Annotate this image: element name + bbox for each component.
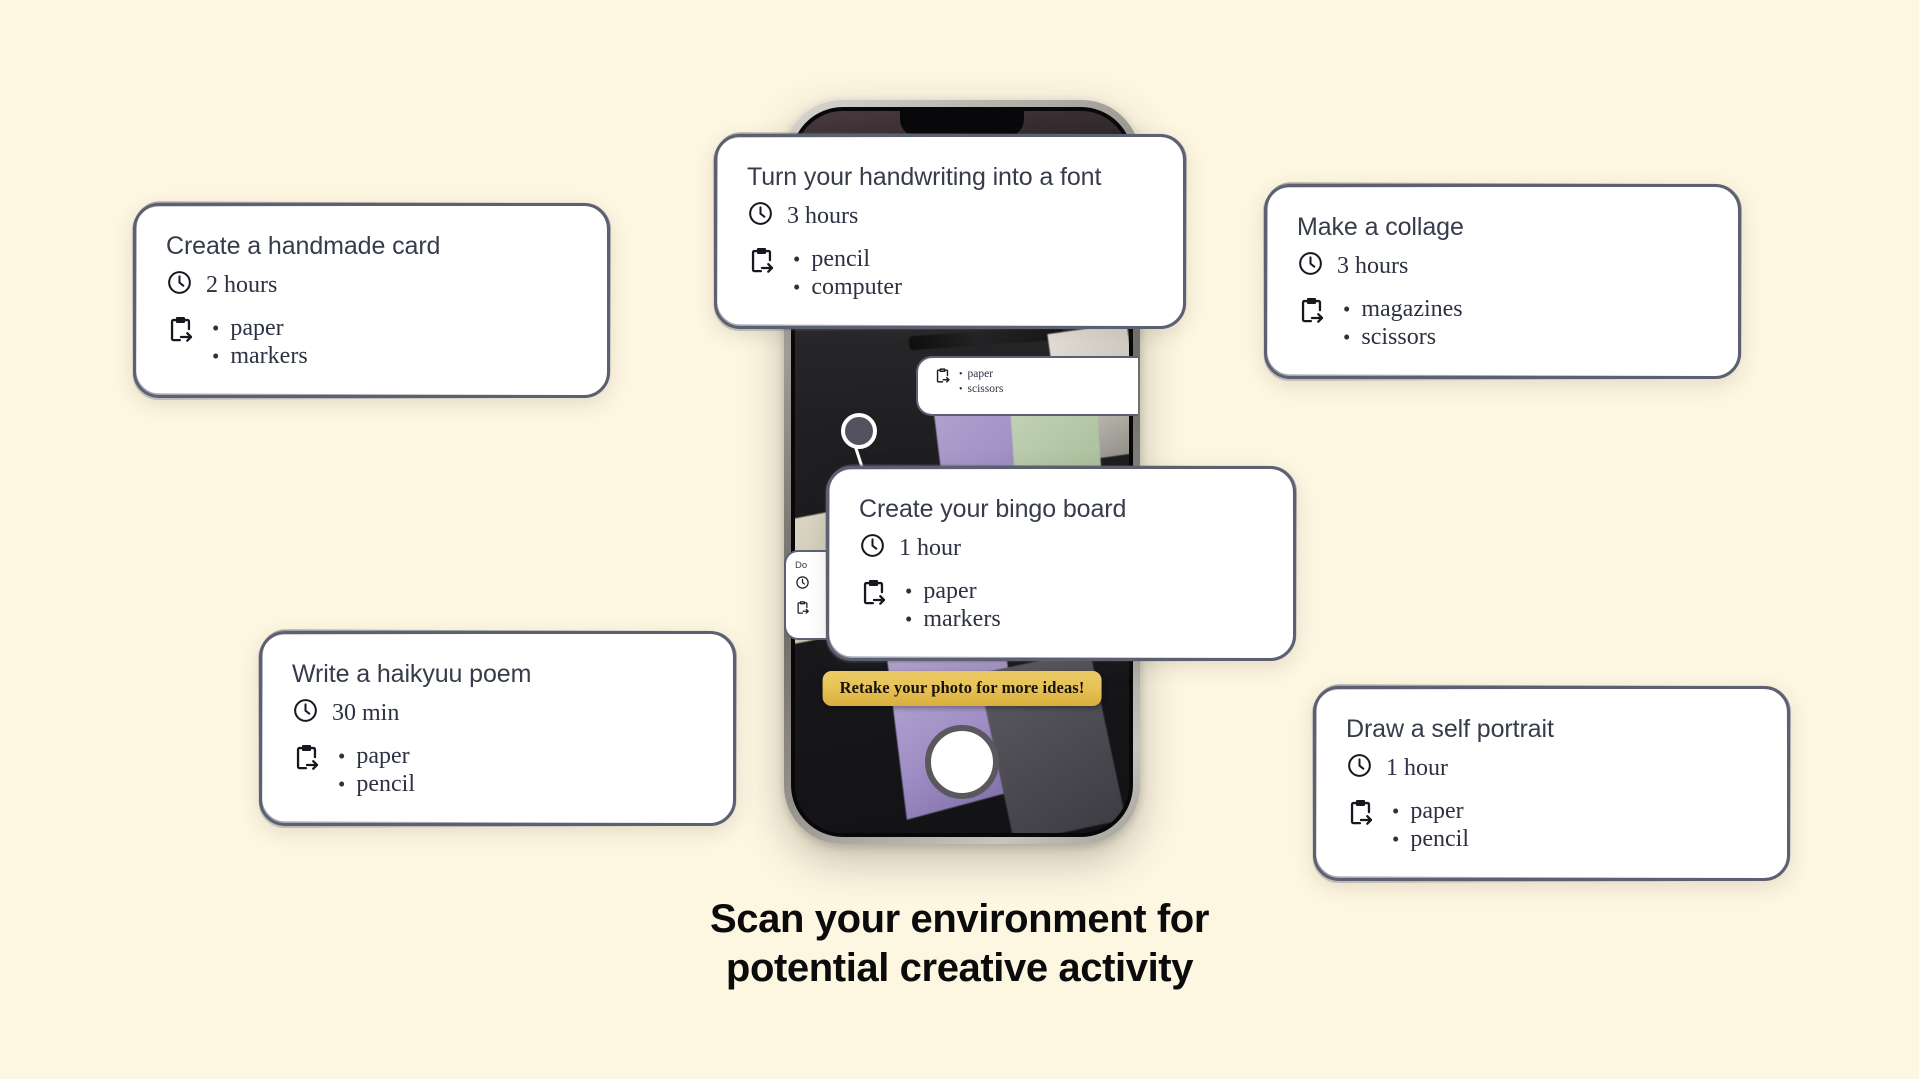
activity-card-haiku[interactable]: Write a haikyuu poem 30 min — [259, 631, 736, 826]
activity-card-duration-row: 1 hour — [1346, 752, 1757, 784]
mini-card-scissors[interactable]: paper scissors — [916, 356, 1138, 416]
activity-card-duration-row: 1 hour — [859, 532, 1263, 564]
activity-card-materials-row: pencil computer — [747, 246, 1153, 302]
clock-icon — [859, 532, 886, 564]
detection-marker-dot[interactable] — [841, 413, 877, 449]
list-item: magazines — [1343, 296, 1463, 324]
activity-card-title: Write a haikyuu poem — [292, 660, 703, 689]
scanner-promo-canvas: Retake your photo for more ideas! paper … — [0, 0, 1919, 1079]
clock-icon — [1346, 752, 1373, 784]
shutter-button[interactable] — [925, 725, 999, 799]
list-item: markers — [905, 606, 1001, 634]
activity-card-materials-list: magazines scissors — [1339, 296, 1463, 352]
activity-card-portrait[interactable]: Draw a self portrait 1 hour — [1313, 686, 1790, 881]
caption-line-1: Scan your environment for — [0, 895, 1919, 944]
caption-line-2: potential creative activity — [0, 944, 1919, 993]
activity-card-duration: 3 hours — [1337, 253, 1408, 280]
list-item: markers — [212, 343, 308, 371]
clipboard-arrow-icon — [292, 743, 321, 777]
list-item: paper — [959, 367, 1003, 382]
clipboard-arrow-icon — [1297, 296, 1326, 330]
mini-card-materials-list: paper scissors — [959, 367, 1003, 396]
clock-icon — [166, 269, 193, 301]
mini-card-materials-row: paper scissors — [934, 367, 1138, 396]
list-item: scissors — [959, 382, 1003, 397]
activity-card-materials-row: paper markers — [166, 315, 577, 371]
activity-card-collage[interactable]: Make a collage 3 hours — [1264, 184, 1741, 379]
activity-card-duration: 2 hours — [206, 272, 277, 299]
activity-card-materials-list: pencil computer — [789, 246, 902, 302]
list-item: paper — [338, 743, 415, 771]
list-item: pencil — [1392, 826, 1469, 854]
activity-card-materials-row: magazines scissors — [1297, 296, 1708, 352]
activity-card-handwriting[interactable]: Turn your handwriting into a font 3 hour… — [714, 134, 1186, 329]
activity-card-materials-row: paper markers — [859, 578, 1263, 634]
activity-card-materials-list: paper pencil — [1388, 798, 1469, 854]
list-item: paper — [1392, 798, 1469, 826]
activity-card-materials-list: paper markers — [901, 578, 1001, 634]
list-item: pencil — [793, 246, 902, 274]
activity-card-materials-list: paper markers — [208, 315, 308, 371]
list-item: computer — [793, 274, 902, 302]
activity-card-duration: 1 hour — [899, 535, 961, 562]
activity-card-materials-row: paper pencil — [1346, 798, 1757, 854]
list-item: paper — [905, 578, 1001, 606]
activity-card-duration: 3 hours — [787, 203, 858, 230]
activity-card-title: Turn your handwriting into a font — [747, 163, 1153, 192]
list-item: scissors — [1343, 324, 1463, 352]
activity-card-title: Draw a self portrait — [1346, 715, 1757, 744]
list-item: paper — [212, 315, 308, 343]
page-caption: Scan your environment for potential crea… — [0, 895, 1919, 993]
activity-card-title: Make a collage — [1297, 213, 1708, 242]
activity-card-duration-row: 2 hours — [166, 269, 577, 301]
clipboard-arrow-icon — [747, 246, 776, 280]
activity-card-bingo[interactable]: Create your bingo board 1 hour — [826, 466, 1296, 661]
clock-icon — [1297, 250, 1324, 282]
activity-card-materials-row: paper pencil — [292, 743, 703, 799]
activity-card-title: Create a handmade card — [166, 232, 577, 261]
activity-card-duration: 30 min — [332, 700, 399, 727]
activity-card-duration: 1 hour — [1386, 755, 1448, 782]
retake-banner[interactable]: Retake your photo for more ideas! — [823, 671, 1102, 706]
list-item: pencil — [338, 771, 415, 799]
activity-card-materials-list: paper pencil — [334, 743, 415, 799]
clipboard-arrow-icon — [166, 315, 195, 349]
activity-card-duration-row: 3 hours — [1297, 250, 1708, 282]
clipboard-arrow-icon — [1346, 798, 1375, 832]
clock-icon — [747, 200, 774, 232]
clipboard-arrow-icon — [859, 578, 888, 612]
activity-card-handmade[interactable]: Create a handmade card 2 hours — [133, 203, 610, 398]
clipboard-arrow-icon — [934, 367, 951, 389]
activity-card-title: Create your bingo board — [859, 495, 1263, 524]
activity-card-duration-row: 3 hours — [747, 200, 1153, 232]
clock-icon — [292, 697, 319, 729]
activity-card-duration-row: 30 min — [292, 697, 703, 729]
